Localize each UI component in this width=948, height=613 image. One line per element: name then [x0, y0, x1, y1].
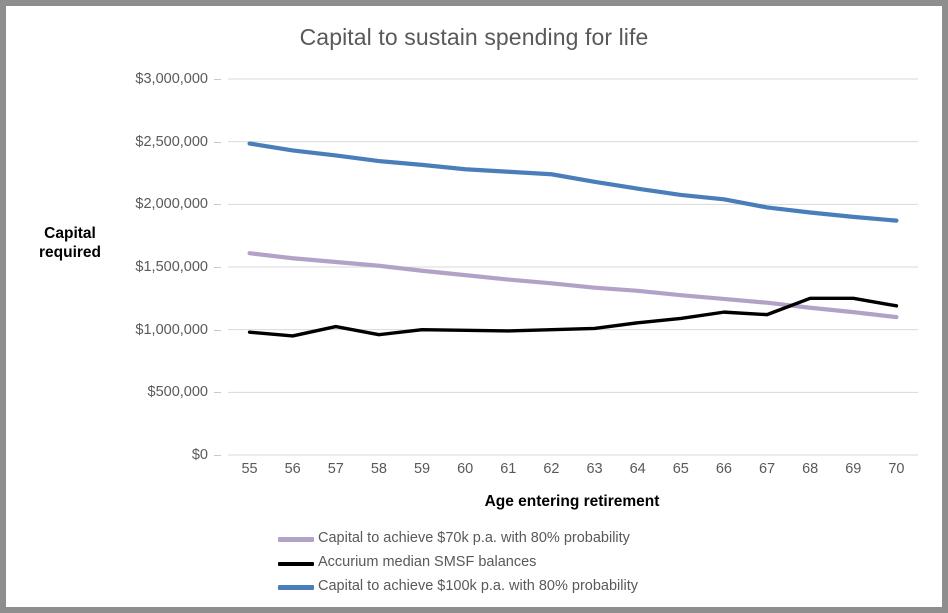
y-axis-tickmark	[214, 204, 221, 205]
x-axis-tick-label: 62	[543, 461, 559, 477]
x-axis-tick-label: 65	[673, 461, 689, 477]
legend-label: Accurium median SMSF balances	[318, 551, 536, 573]
y-axis-tickmark	[214, 267, 221, 268]
legend-color-swatch	[278, 562, 314, 566]
y-axis-tick-label: $2,500,000	[98, 134, 208, 150]
legend-label: Capital to achieve $100k p.a. with 80% p…	[318, 575, 638, 597]
legend-color-swatch	[278, 537, 314, 542]
y-axis-tick-label: $2,000,000	[98, 196, 208, 212]
x-axis-tick-label: 64	[630, 461, 646, 477]
y-axis-tick-label: $0	[98, 447, 208, 463]
series-line	[250, 253, 897, 317]
series-line	[250, 144, 897, 221]
x-axis-tick-label: 60	[457, 461, 473, 477]
x-axis-tick-label: 70	[888, 461, 904, 477]
y-axis-tick-label: $500,000	[98, 384, 208, 400]
y-axis-tick-label: $1,000,000	[98, 322, 208, 338]
plot-lines	[228, 79, 918, 455]
legend-item[interactable]: Accurium median SMSF balances	[6, 551, 942, 575]
x-axis-title: Age entering retirement	[222, 493, 922, 511]
x-axis-tick-label: 59	[414, 461, 430, 477]
x-axis-tick-label: 56	[285, 461, 301, 477]
x-axis-tick-label: 57	[328, 461, 344, 477]
series-line	[250, 298, 897, 336]
chart-legend: Capital to achieve $70k p.a. with 80% pr…	[6, 527, 942, 599]
y-axis-tickmark	[214, 392, 221, 393]
y-axis-tick-labels: $0$500,000$1,000,000$1,500,000$2,000,000…	[98, 6, 208, 607]
x-axis-tick-label: 69	[845, 461, 861, 477]
x-axis-tick-label: 61	[500, 461, 516, 477]
y-axis-tick-label: $3,000,000	[98, 71, 208, 87]
plot-area	[228, 79, 918, 455]
y-axis-tickmark	[214, 330, 221, 331]
chart-canvas: Capital to sustain spending for life Cap…	[6, 6, 942, 607]
x-axis-tick-label: 58	[371, 461, 387, 477]
chart-screenshot: Capital to sustain spending for life Cap…	[0, 0, 948, 613]
x-axis-tick-label: 63	[586, 461, 602, 477]
x-axis-tick-label: 66	[716, 461, 732, 477]
y-axis-tickmark	[214, 79, 221, 80]
y-axis-tick-label: $1,500,000	[98, 259, 208, 275]
y-axis-tickmark	[214, 455, 221, 456]
legend-item[interactable]: Capital to achieve $70k p.a. with 80% pr…	[6, 527, 942, 551]
x-axis-tick-label: 68	[802, 461, 818, 477]
legend-item[interactable]: Capital to achieve $100k p.a. with 80% p…	[6, 575, 942, 599]
x-axis-tick-label: 55	[241, 461, 257, 477]
x-axis-tick-label: 67	[759, 461, 775, 477]
y-axis-tickmark	[214, 142, 221, 143]
legend-label: Capital to achieve $70k p.a. with 80% pr…	[318, 527, 630, 549]
legend-color-swatch	[278, 585, 314, 590]
